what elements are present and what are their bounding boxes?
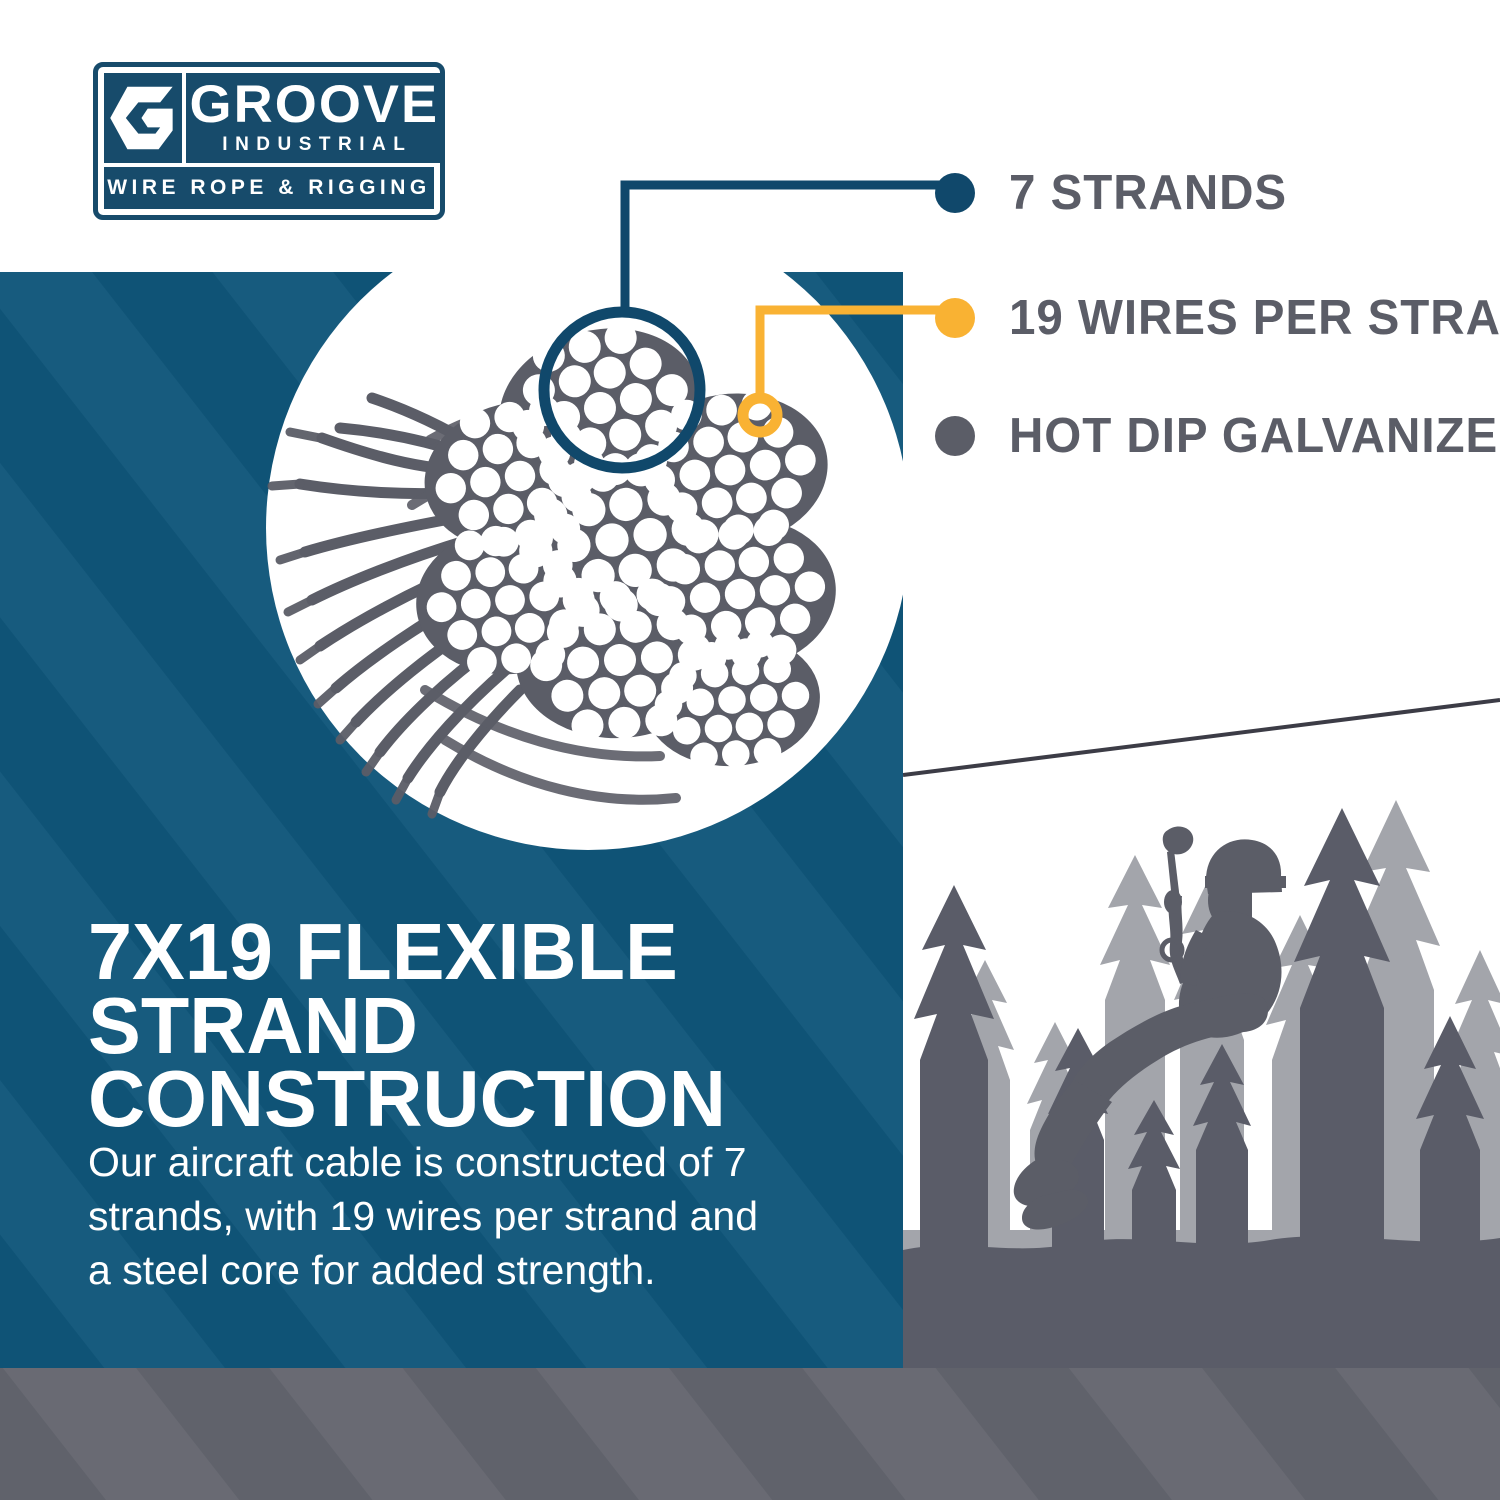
brand-subname: INDUSTRIAL xyxy=(216,134,412,156)
headline-line-2: STRAND CONSTRUCTION xyxy=(88,989,870,1136)
brand-tagline: WIRE ROPE & RIGGING xyxy=(107,176,431,200)
callout-dot-galvanized xyxy=(935,416,975,456)
description-text: Our aircraft cable is constructed of 7 s… xyxy=(88,1135,788,1297)
brand-logo[interactable]: GROOVE INDUSTRIAL WIRE ROPE & RIGGING xyxy=(93,62,445,220)
leader-line-strands xyxy=(625,185,955,316)
callout-dot-wires xyxy=(935,298,975,338)
brand-name: GROOVE xyxy=(190,80,440,129)
callout-label-galvanized: HOT DIP GALVANIZED xyxy=(1009,408,1500,464)
g-monogram-icon xyxy=(104,73,182,163)
callout-dot-strands xyxy=(935,173,975,213)
callout-label-wires: 19 WIRES PER STRAND xyxy=(1009,290,1500,346)
page-title: 7X19 FLEXIBLE STRAND CONSTRUCTION xyxy=(88,915,870,1136)
leader-line-wires xyxy=(760,310,955,398)
headline-line-1: 7X19 FLEXIBLE xyxy=(88,915,870,989)
infographic-canvas: GROOVE INDUSTRIAL WIRE ROPE & RIGGING 7 … xyxy=(0,0,1500,1500)
callout-wires[interactable]: 19 WIRES PER STRAND xyxy=(935,290,1500,346)
callout-strands[interactable]: 7 STRANDS xyxy=(935,165,1296,221)
callout-label-strands: 7 STRANDS xyxy=(1009,165,1287,221)
callout-galvanized[interactable]: HOT DIP GALVANIZED xyxy=(935,408,1500,464)
